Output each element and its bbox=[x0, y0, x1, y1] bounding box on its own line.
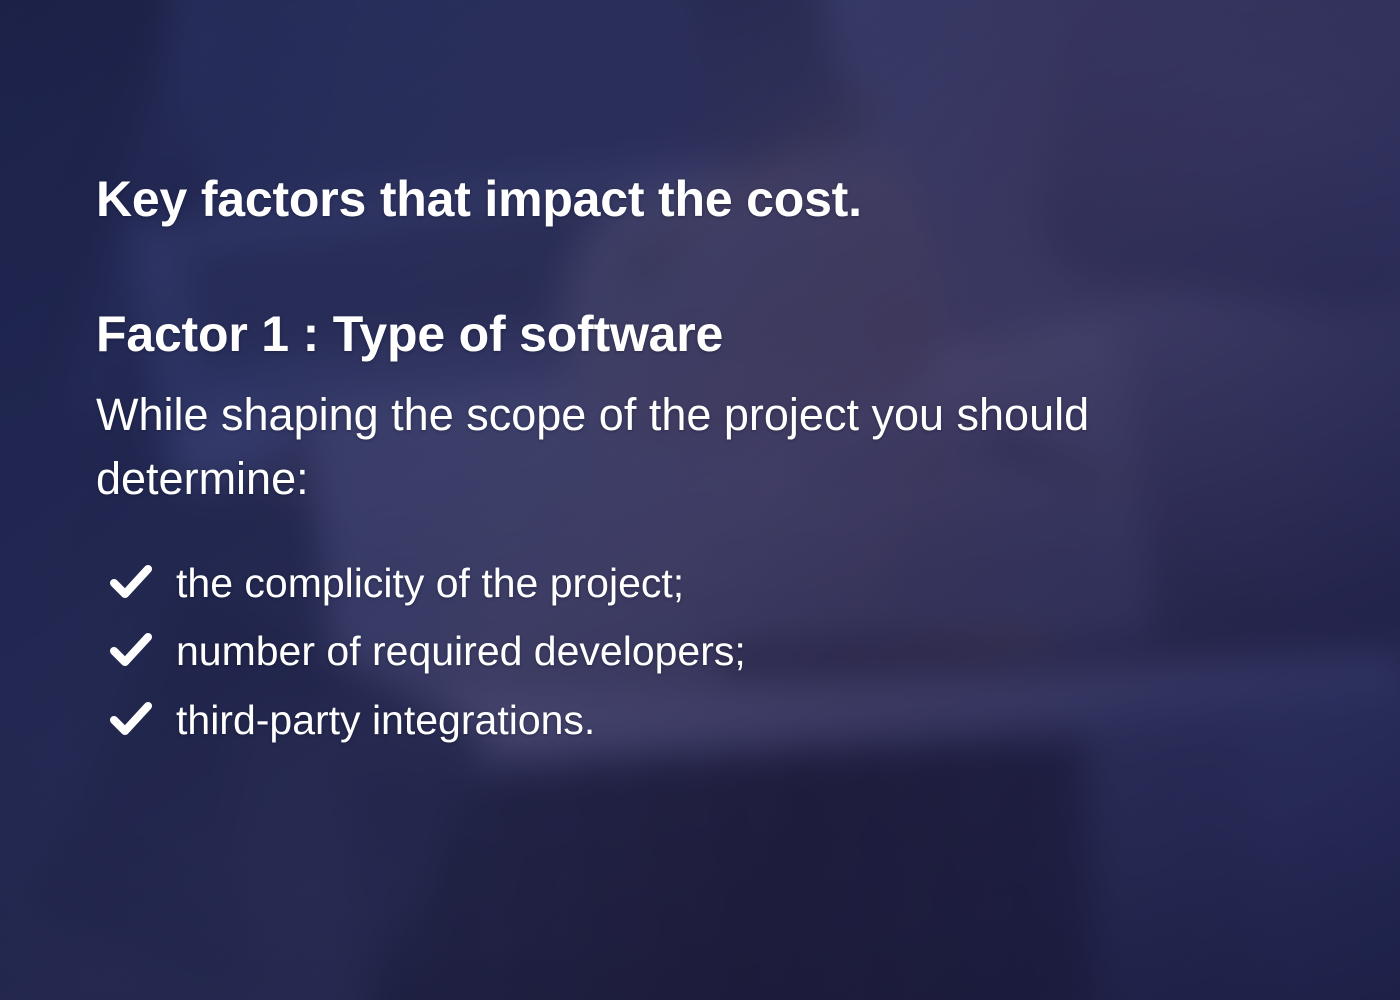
heading-line-1: Key factors that impact the cost. bbox=[96, 166, 862, 234]
slide-content: Key factors that impact the cost. Factor… bbox=[0, 0, 1400, 1000]
check-icon bbox=[108, 620, 154, 682]
list-item-label: third-party integrations. bbox=[176, 689, 595, 751]
check-icon bbox=[108, 552, 154, 614]
list-item-label: number of required developers; bbox=[176, 620, 746, 682]
list-item: number of required developers; bbox=[108, 620, 746, 682]
list-item-label: the complicity of the project; bbox=[176, 552, 684, 614]
body-paragraph: While shaping the scope of the project y… bbox=[96, 383, 1306, 511]
slide-canvas: Key factors that impact the cost. Factor… bbox=[0, 0, 1400, 1000]
list-item: the complicity of the project; bbox=[108, 552, 746, 614]
checklist: the complicity of the project; number of… bbox=[108, 552, 746, 757]
check-icon bbox=[108, 689, 154, 751]
heading-line-2: Factor 1 : Type of software bbox=[96, 301, 862, 369]
list-item: third-party integrations. bbox=[108, 689, 746, 751]
